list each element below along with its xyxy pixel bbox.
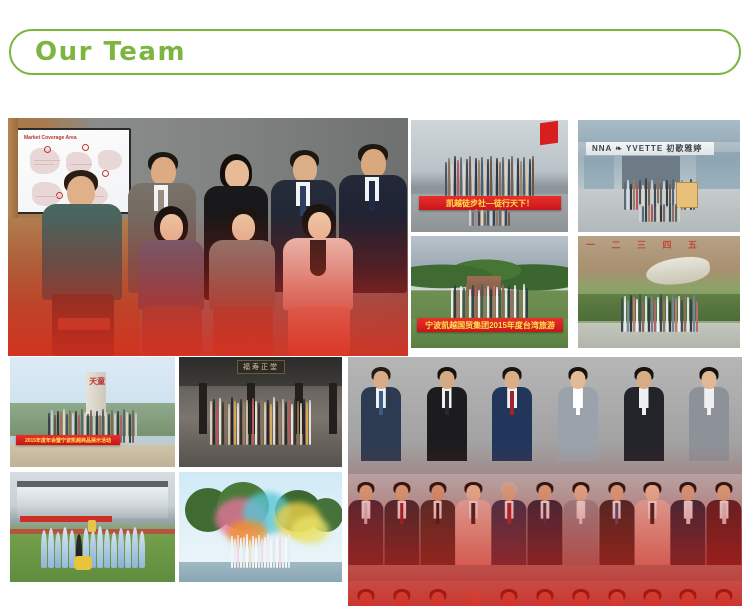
portrait-tie [615,503,619,524]
office-building-group-photo[interactable]: NNA ❧ YVETTE 初歌雅婷 [578,120,740,232]
chinese-flag [540,121,558,146]
portrait-3[interactable] [479,357,545,474]
portrait-tie [722,503,726,524]
portrait-13[interactable] [563,474,599,581]
portrait-16[interactable] [670,474,706,581]
portrait-tie [400,503,404,524]
portrait-23[interactable] [527,581,563,606]
portrait-head [503,592,516,606]
portrait-tie [579,503,583,524]
portrait-head [373,371,388,389]
portrait-tie [576,391,580,415]
portrait-tie [686,503,690,524]
portrait-head [717,592,730,606]
portrait-18[interactable] [348,581,384,606]
portrait-head [574,592,587,606]
portrait-17[interactable] [706,474,742,581]
portrait-9[interactable] [420,474,456,581]
portrait-tie [707,391,711,415]
portrait-tie [472,503,476,524]
portrait-21[interactable] [455,581,491,606]
photo-gallery: Market Coverage Area [0,110,750,606]
portrait-10[interactable] [455,474,491,581]
portrait-6[interactable] [676,357,742,474]
staff-portrait-wall[interactable] [348,357,742,606]
portrait-head [646,592,659,606]
portrait-head [702,371,717,389]
team-page: Our Team Market Coverage Area [0,0,750,606]
monument-inscription: 天童 [89,377,105,386]
team-group-portrait[interactable]: Market Coverage Area [8,118,408,356]
taiwan-trip-group-photo[interactable]: 宁波凯越国贸集团2015年度台湾旅游 [411,236,568,348]
portrait-tie [543,503,547,524]
banner-text: 宁波凯越国贸集团2015年度台湾旅游 [417,318,563,332]
portrait-head [538,485,551,501]
portrait-head [395,485,408,501]
portrait-head [505,371,520,389]
portrait-head [359,592,372,606]
portrait-head [682,592,695,606]
portrait-22[interactable] [491,581,527,606]
portrait-head [682,485,695,501]
portrait-19[interactable] [384,581,420,606]
portrait-26[interactable] [635,581,671,606]
section-header-our-team: Our Team [9,29,741,75]
portrait-head [570,371,585,389]
soccer-team-trophy-photo[interactable] [10,472,175,582]
temple-hall-group-photo[interactable]: 福寿正堂 [179,357,342,467]
portrait-12[interactable] [527,474,563,581]
portrait-11[interactable] [491,474,527,581]
portrait-head [574,485,587,501]
portrait-5[interactable] [611,357,677,474]
trophy-icon [88,520,96,532]
banner-text: 2015年度年会暨宁波凯越商品展示活动 [16,435,120,445]
portrait-head [467,485,480,501]
portrait-head [395,592,408,606]
portrait-20[interactable] [420,581,456,606]
portrait-8[interactable] [384,474,420,581]
portrait-head [431,485,444,501]
portrait-head [610,485,623,501]
portrait-tie [507,503,511,524]
portrait-tie [445,391,449,415]
hall-plaque: 福寿正堂 [237,360,285,374]
portrait-head [503,485,516,501]
portrait-4[interactable] [545,357,611,474]
cliff-inscription: 一 二 三 四 五 [586,238,704,251]
portrait-25[interactable] [599,581,635,606]
hiking-club-group-photo[interactable]: 凯越徒步社—徒行天下！ [411,120,568,232]
portrait-tie [364,503,368,524]
portrait-14[interactable] [599,474,635,581]
portrait-head [646,485,659,501]
building-sign: NNA ❧ YVETTE 初歌雅婷 [586,142,714,155]
portrait-head [636,371,651,389]
portrait-head [467,592,480,606]
portrait-tie [510,391,514,415]
portrait-head [431,592,444,606]
portrait-24[interactable] [563,581,599,606]
portrait-tie [642,391,646,415]
portrait-tie [379,391,383,415]
portrait-27[interactable] [670,581,706,606]
color-run-event-photo[interactable] [179,472,342,582]
monument-annual-meeting-photo[interactable]: 天童 [10,357,175,467]
portrait-tie [436,503,440,524]
portrait-head [717,485,730,501]
portrait-head [359,485,372,501]
page-title: Our Team [35,39,186,65]
portrait-15[interactable] [635,474,671,581]
portrait-28[interactable] [706,581,742,606]
portrait-head [538,592,551,606]
portrait-2[interactable] [414,357,480,474]
portrait-7[interactable] [348,474,384,581]
portrait-head [610,592,623,606]
scenic-park-group-photo[interactable]: 一 二 三 四 五 [578,236,740,348]
portrait-head [439,371,454,389]
portrait-1[interactable] [348,357,414,474]
portrait-tie [651,503,655,524]
